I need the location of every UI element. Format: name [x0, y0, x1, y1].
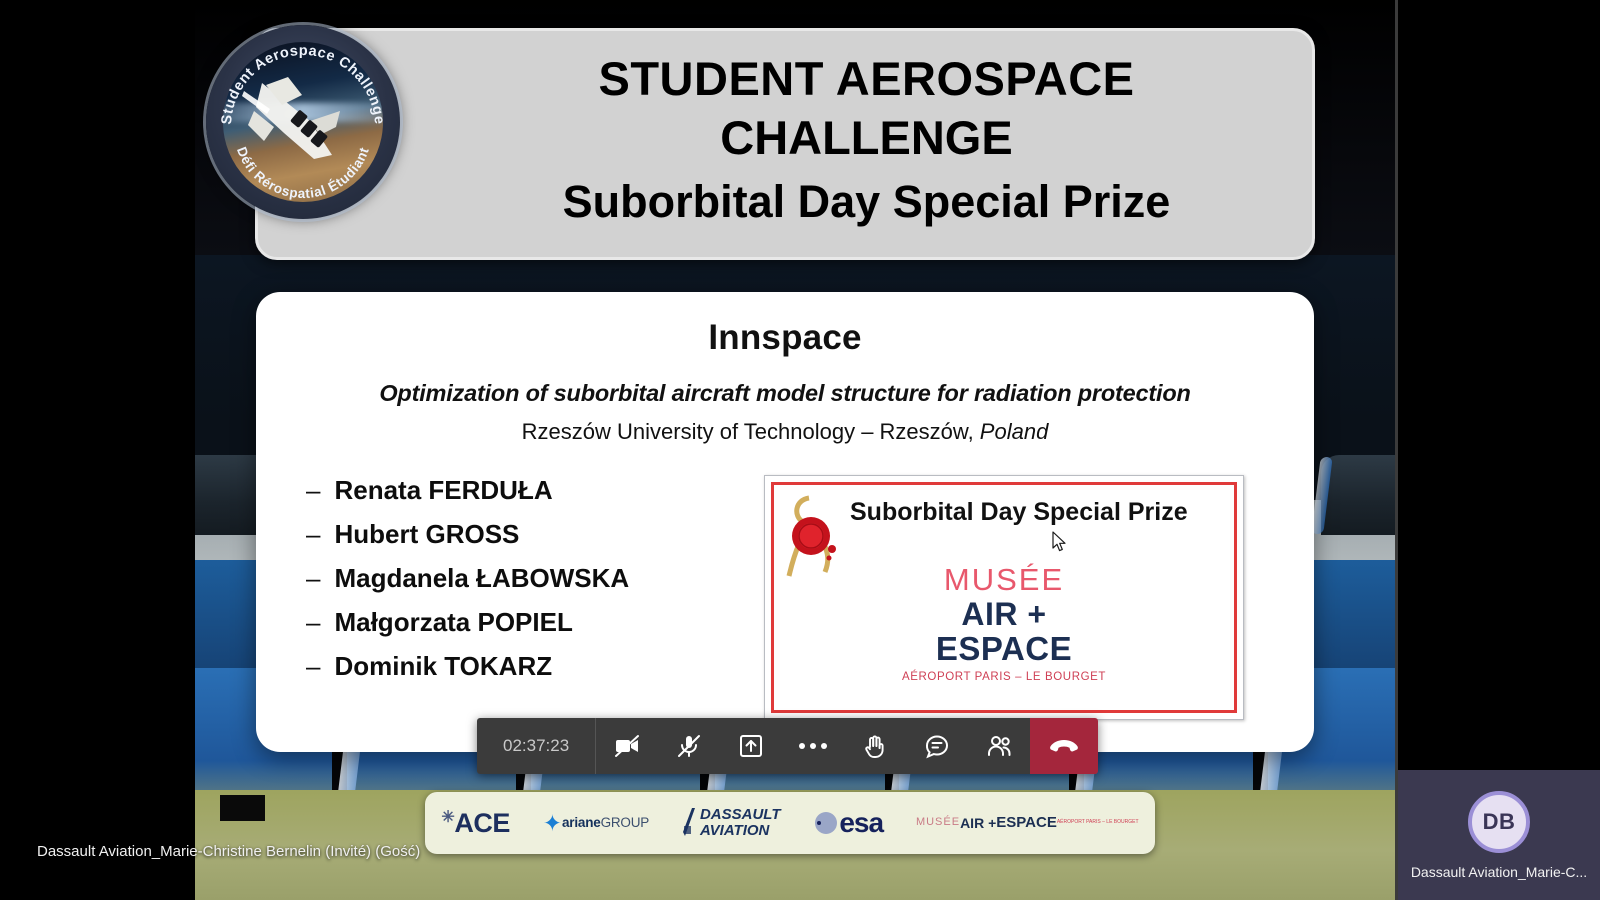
arianegroup-mark-icon: ✦ [543, 812, 562, 835]
arianegroup-label-a: ariane [562, 815, 601, 830]
sponsor-logo-ace: ✳ACE [441, 792, 509, 854]
hangup-icon[interactable] [1030, 718, 1098, 774]
mae-line-2: AIR + [765, 598, 1243, 632]
event-banner: Student Aerospace Challenge Défi Rérospa… [255, 28, 1315, 260]
member-name: Renata FERDUŁA [334, 475, 552, 506]
arianegroup-label-b: GROUP [601, 815, 650, 830]
mae-line-1: MUSÉE [765, 564, 1243, 595]
floor-marker [220, 795, 265, 821]
mouse-cursor-icon [1052, 531, 1068, 553]
student-aerospace-challenge-logo-icon: Student Aerospace Challenge Défi Rérospa… [206, 25, 400, 219]
camera-off-icon[interactable] [596, 718, 658, 774]
sponsor-logo-dassault-aviation: DASSAULT AVIATION [682, 792, 781, 854]
shared-screen-stage[interactable]: Student Aerospace Challenge Défi Rérospa… [0, 0, 1398, 900]
share-screen-icon[interactable] [720, 718, 782, 774]
team-member-list: – Renata FERDUŁA – Hubert GROSS – Magdan… [256, 475, 756, 720]
presentation-slide: Innspace Optimization of suborbital airc… [256, 292, 1314, 752]
slide-subtitle: Optimization of suborbital aircraft mode… [256, 380, 1314, 407]
sponsor-logo-arianegroup: ✦ arianeGROUP [543, 792, 649, 854]
ace-label: ACE [454, 808, 510, 838]
banner-line-2: CHALLENGE [443, 104, 1290, 172]
prize-heading: Suborbital Day Special Prize [850, 498, 1233, 527]
more-options-icon[interactable] [782, 718, 844, 774]
member-name: Dominik TOKARZ [334, 651, 552, 682]
sponsor-logo-esa: esa [813, 792, 883, 854]
raise-hand-icon[interactable] [844, 718, 906, 774]
organization-country: Poland [980, 419, 1049, 444]
banner-line-3: Suborbital Day Special Prize [443, 172, 1290, 233]
sponsor-logo-musee-air-espace: MUSÉE AIR + ESPACE AÉROPORT PARIS – LE B… [916, 792, 1139, 854]
list-item: – Magdanela ŁABOWSKA [306, 563, 756, 594]
slide-team-name: Innspace [256, 318, 1314, 358]
avatar: DB [1468, 791, 1530, 853]
participant-rail [1398, 0, 1600, 900]
prize-panel: Suborbital Day Special Prize MUSÉE AIR +… [764, 475, 1244, 720]
call-duration-timer: 02:37:23 [477, 718, 596, 774]
sponsor-mae-line-3: ESPACE [996, 815, 1057, 830]
sponsor-mae-line-1: MUSÉE [916, 817, 960, 828]
dassault-line-2: AVIATION [700, 823, 781, 839]
dassault-line-1: DASSAULT [700, 807, 781, 823]
sponsor-bar: ✳ACE ✦ arianeGROUP DASSAULT AVIATION [425, 792, 1155, 854]
bullet-dash: – [306, 475, 320, 506]
esa-label: esa [839, 807, 883, 839]
mae-line-3: ESPACE [765, 632, 1243, 667]
list-item: – Małgorzata POPIEL [306, 607, 756, 638]
meeting-window: Student Aerospace Challenge Défi Rérospa… [0, 0, 1600, 900]
spaceplane-icon [240, 67, 352, 175]
meeting-control-bar[interactable]: 02:37:23 [477, 718, 1098, 774]
list-item: – Hubert GROSS [306, 519, 756, 550]
participant-tile[interactable]: DB Dassault Aviation_Marie-C... [1398, 770, 1600, 900]
member-name: Hubert GROSS [334, 519, 519, 550]
bullet-dash: – [306, 651, 320, 682]
sponsor-mae-line-4: AÉROPORT PARIS – LE BOURGET [1057, 820, 1139, 825]
control-button-group: 02:37:23 [477, 718, 1030, 774]
member-name: Magdanela ŁABOWSKA [334, 563, 629, 594]
bullet-dash: – [306, 563, 320, 594]
slide-body: – Renata FERDUŁA – Hubert GROSS – Magdan… [256, 475, 1314, 720]
chat-icon[interactable] [906, 718, 968, 774]
mic-off-icon[interactable] [658, 718, 720, 774]
list-item: – Renata FERDUŁA [306, 475, 756, 506]
participants-icon[interactable] [968, 718, 1030, 774]
esa-globe-icon [813, 810, 839, 836]
mae-line-4: AÉROPORT PARIS – LE BOURGET [765, 671, 1243, 683]
banner-line-1: STUDENT AEROSPACE [443, 55, 1290, 104]
organization-text: Rzeszów University of Technology – Rzesz… [522, 419, 980, 444]
participant-name: Dassault Aviation_Marie-C... [1411, 864, 1587, 880]
bullet-dash: – [306, 519, 320, 550]
self-view-name-label: Dassault Aviation_Marie-Christine Bernel… [37, 843, 420, 860]
musee-air-espace-logo-icon: MUSÉE AIR + ESPACE AÉROPORT PARIS – LE B… [765, 564, 1243, 683]
ace-star-icon: ✳ [441, 809, 454, 826]
slide-organization: Rzeszów University of Technology – Rzesz… [256, 419, 1314, 445]
sponsor-mae-line-2: AIR + [960, 816, 996, 830]
bullet-dash: – [306, 607, 320, 638]
member-name: Małgorzata POPIEL [334, 607, 572, 638]
list-item: – Dominik TOKARZ [306, 651, 756, 682]
dassault-mark-icon [682, 806, 700, 840]
